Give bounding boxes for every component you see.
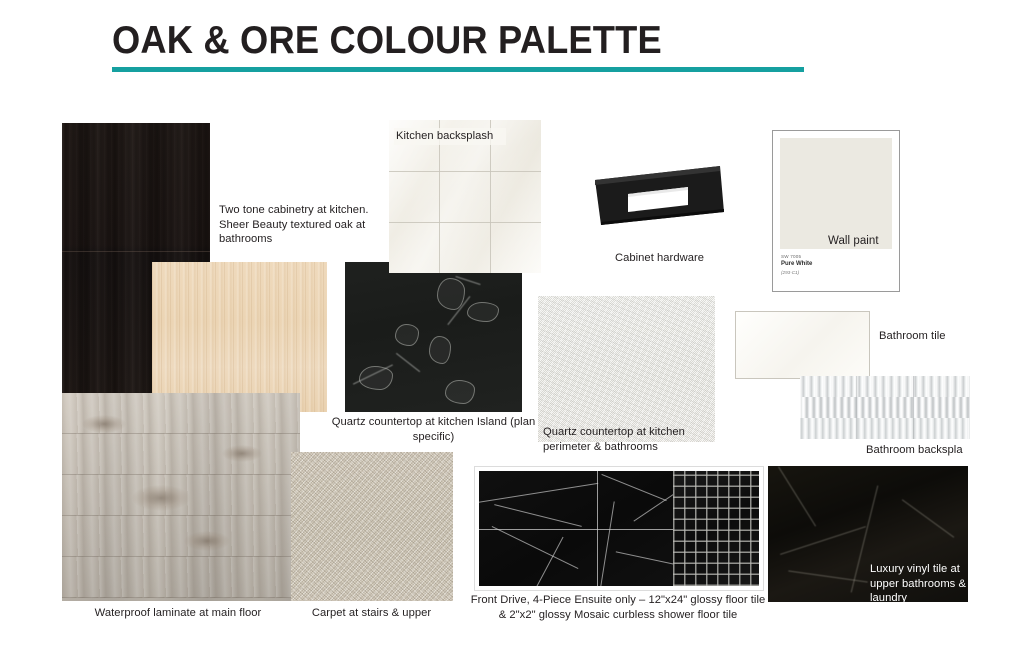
caption-waterproof-laminate: Waterproof laminate at main floor [78, 606, 278, 621]
marble-vein [601, 474, 666, 502]
page-title: OAK & ORE COLOUR PALETTE [112, 18, 763, 64]
swatch-front-drive-tile [474, 466, 764, 591]
caption-bathroom-backsplash: Bathroom backspla [866, 443, 1024, 458]
quartz-blotch [445, 380, 475, 404]
laminate-plank [62, 516, 300, 557]
paint-colour-name: Pure White [781, 260, 893, 269]
wave-texture-row [800, 418, 968, 439]
caption-front-drive-tile: Front Drive, 4-Piece Ensuite only – 12"x… [468, 593, 768, 622]
laminate-plank [62, 557, 300, 598]
caption-white-quartz: Quartz countertop at kitchen perimeter &… [543, 425, 723, 454]
marble-vein [902, 499, 954, 538]
tile-grout-line [597, 471, 599, 586]
caption-black-quartz-island: Quartz countertop at kitchen Island (pla… [330, 415, 537, 444]
swatch-white-quartz-perimeter [538, 296, 715, 442]
caption-cabinet-hardware: Cabinet hardware [597, 251, 722, 266]
bar-pull-icon [592, 160, 727, 228]
wood-knot [184, 531, 230, 551]
colour-palette-board: OAK & ORE COLOUR PALETTE [0, 0, 1024, 655]
caption-carpet: Carpet at stairs & upper [288, 606, 455, 621]
quartz-blotch [359, 366, 393, 390]
tile-seam [913, 376, 914, 439]
swatch-light-oak [152, 262, 327, 412]
caption-luxury-vinyl-tile: Luxury vinyl tile at upper bathrooms & l… [870, 562, 974, 606]
paint-chip-meta: SW 7005 Pure White (293-C1) [781, 253, 893, 276]
marble-vein [479, 483, 598, 505]
marble-vein [600, 501, 615, 586]
tile-seam [856, 376, 857, 439]
wood-knot [82, 415, 126, 433]
quartz-blotch [395, 324, 419, 346]
caption-dark-cabinetry: Two tone cabinetry at kitchen. Sheer Bea… [219, 203, 384, 247]
marble-vein [494, 504, 582, 527]
title-block: OAK & ORE COLOUR PALETTE [112, 18, 812, 64]
quartz-blotch [429, 336, 451, 364]
marble-vein [534, 537, 563, 586]
quartz-speckle-texture [538, 296, 715, 442]
caption-wall-paint: Wall paint [828, 234, 908, 249]
marble-vein [492, 526, 579, 569]
caption-kitchen-backsplash: Kitchen backsplash [394, 128, 506, 145]
swatch-wall-paint-chip: SW 7005 Pure White (293-C1) [772, 130, 900, 292]
paint-code-top: SW 7005 [781, 253, 893, 260]
paint-code-bottom: (293-C1) [781, 269, 893, 276]
quartz-blotch [467, 302, 499, 322]
swatch-waterproof-laminate [62, 393, 300, 601]
marble-tile-field [479, 471, 759, 586]
title-underline-rule [112, 67, 804, 72]
wood-knot [222, 445, 262, 462]
paint-colour-block [780, 138, 892, 249]
wave-texture-row [802, 397, 970, 418]
swatch-bathroom-tile [735, 311, 870, 379]
marble-vein [778, 467, 816, 527]
swatch-cabinet-hardware [592, 160, 727, 228]
tile-grout-line [479, 529, 673, 531]
laminate-plank [62, 434, 300, 475]
swatch-carpet [291, 452, 453, 601]
tile-grout-line [389, 171, 541, 172]
quartz-blotch [437, 278, 465, 310]
swatch-black-quartz-island [345, 262, 522, 412]
marble-vein [780, 526, 866, 555]
caption-bathroom-tile: Bathroom tile [879, 329, 1009, 344]
cabinet-door-seam [62, 251, 210, 252]
tile-grout-line [389, 222, 541, 223]
swatch-bathroom-backsplash [800, 376, 970, 439]
wood-knot [132, 485, 190, 511]
carpet-fibre-texture [291, 452, 453, 601]
mosaic-tile-section [673, 471, 759, 586]
quartz-vein [396, 353, 420, 372]
